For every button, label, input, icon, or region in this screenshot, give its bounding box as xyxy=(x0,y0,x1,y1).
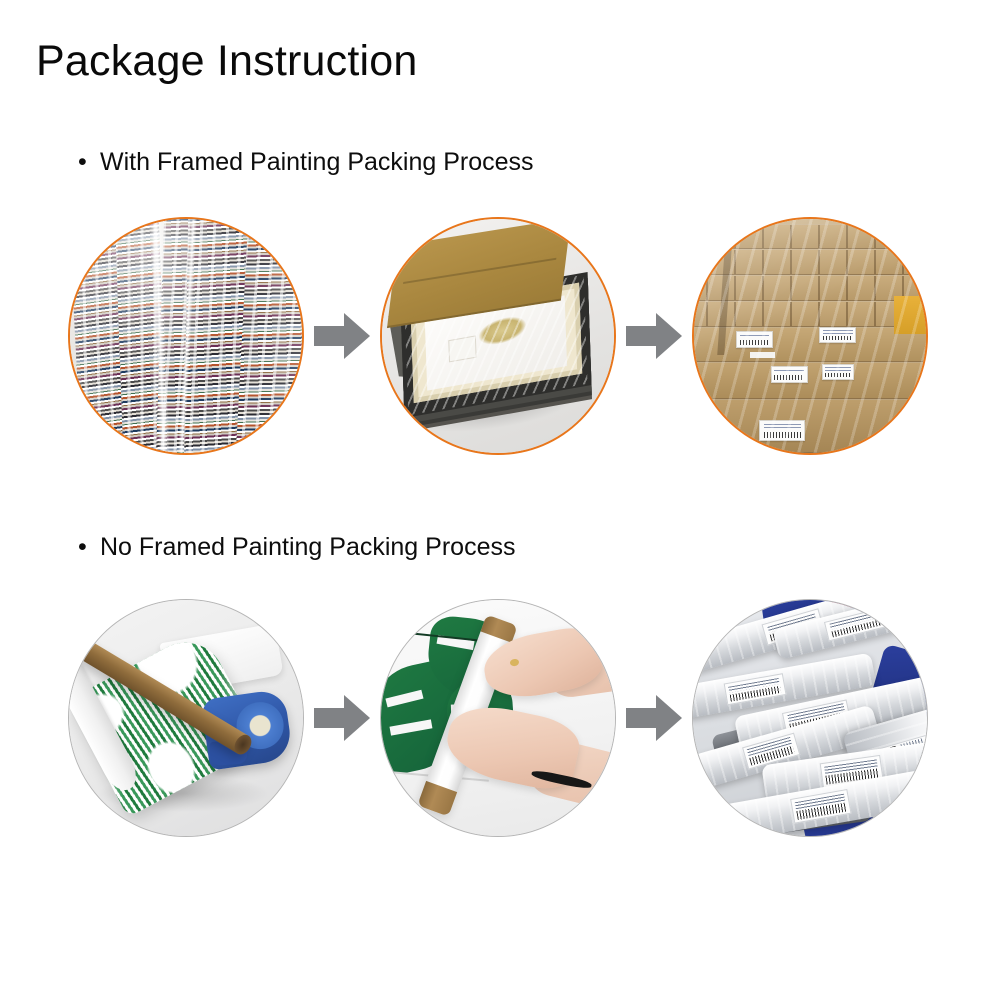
arrow-head xyxy=(656,695,682,741)
arrow-shaft xyxy=(626,708,660,728)
image-hands-with-mailing-tube xyxy=(381,600,615,836)
arrow-head xyxy=(656,313,682,359)
arrow-right-icon-framed-1 xyxy=(314,313,370,359)
photo-stacked-wrapped-framed-paintings xyxy=(68,217,304,455)
arrow-shaft xyxy=(314,708,348,728)
bullet-icon: • xyxy=(78,535,100,560)
arrow-shaft xyxy=(314,326,348,346)
photo-wrapped-tubes-ready-to-ship xyxy=(692,599,928,837)
section-heading-framed-label: With Framed Painting Packing Process xyxy=(100,148,534,176)
photo-rolled-canvas-and-packing-supplies xyxy=(68,599,304,837)
photo-inner xyxy=(693,600,927,836)
step-row-unframed xyxy=(68,598,928,838)
photo-palletized-shipping-cartons xyxy=(692,217,928,455)
photo-inserting-canvas-into-tube xyxy=(380,599,616,837)
arrow-head xyxy=(344,313,370,359)
photo-inner xyxy=(381,600,615,836)
arrow-right-icon-unframed-2 xyxy=(626,695,682,741)
arrow-head xyxy=(344,695,370,741)
arrow-right-icon-unframed-1 xyxy=(314,695,370,741)
arrow-right-icon-framed-2 xyxy=(626,313,682,359)
photo-inner xyxy=(69,600,303,836)
image-canvas-tube-tape xyxy=(69,600,303,836)
bullet-icon: • xyxy=(78,150,100,175)
image-warehouse-carton-stacks xyxy=(694,219,926,453)
image-warehouse-painting-stacks xyxy=(70,219,302,453)
photo-inner xyxy=(70,219,302,453)
section-heading-framed: •With Framed Painting Packing Process xyxy=(78,149,534,177)
page-title: Package Instruction xyxy=(36,38,417,85)
section-heading-unframed-label: No Framed Painting Packing Process xyxy=(100,533,515,561)
arrow-shaft xyxy=(626,326,660,346)
photo-framed-painting-in-carton xyxy=(380,217,616,455)
image-framed-painting-carton xyxy=(382,219,614,453)
photo-inner xyxy=(382,219,614,453)
section-heading-unframed: •No Framed Painting Packing Process xyxy=(78,534,515,562)
photo-inner xyxy=(694,219,926,453)
step-row-framed xyxy=(68,216,928,456)
image-wrapped-mailing-tubes xyxy=(693,600,927,836)
